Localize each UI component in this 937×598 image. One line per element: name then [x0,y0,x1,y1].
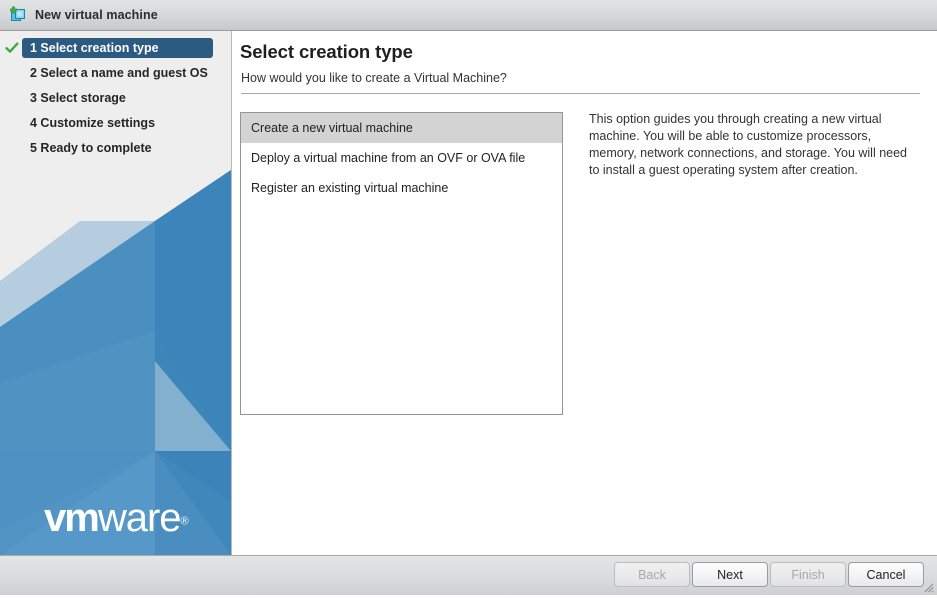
sidebar-step-select-storage[interactable]: 3 Select storage [0,88,231,108]
sidebar-step-ready-to-complete[interactable]: 5 Ready to complete [0,138,231,158]
header-divider [241,93,920,94]
wizard-footer: Back Next Finish Cancel [0,555,937,595]
step-marker-placeholder [4,115,20,131]
finish-button[interactable]: Finish [770,562,846,587]
sidebar-step-select-creation-type[interactable]: 1 Select creation type [0,38,231,58]
sidebar-step-label: 3 Select storage [22,88,135,108]
vmware-logo: vmware® [44,498,189,538]
wizard-sidebar: vmware® 1 Select creation type 2 Select … [0,31,231,555]
window-title: New virtual machine [35,8,158,22]
list-item-label: Register an existing virtual machine [251,181,448,195]
list-item-register-existing-virtual-machine[interactable]: Register an existing virtual machine [241,173,562,203]
sidebar-step-label: 1 Select creation type [22,38,213,58]
wizard-main-panel: Select creation type How would you like … [231,31,937,555]
next-button[interactable]: Next [692,562,768,587]
window-titlebar: New virtual machine [0,0,937,31]
list-item-label: Deploy a virtual machine from an OVF or … [251,151,525,165]
list-item-label: Create a new virtual machine [251,121,413,135]
wizard-step-list: 1 Select creation type 2 Select a name a… [0,31,231,163]
new-virtual-machine-icon [8,6,28,24]
vmware-logo-bold: vm [44,496,98,540]
vmware-logo-trademark: ® [181,516,189,528]
new-virtual-machine-wizard: New virtual machine vmware® [0,0,937,595]
page-title: Select creation type [240,41,413,63]
step-marker-placeholder [4,65,20,81]
checkmark-icon [4,40,20,56]
cancel-button[interactable]: Cancel [848,562,924,587]
sidebar-step-customize-settings[interactable]: 4 Customize settings [0,113,231,133]
page-subtitle: How would you like to create a Virtual M… [241,71,507,85]
sidebar-step-label: 5 Ready to complete [22,138,161,158]
list-item-create-new-virtual-machine[interactable]: Create a new virtual machine [241,113,562,143]
creation-type-list[interactable]: Create a new virtual machine Deploy a vi… [240,112,563,415]
sidebar-step-select-name-and-guest-os[interactable]: 2 Select a name and guest OS [0,63,231,83]
step-marker-placeholder [4,140,20,156]
sidebar-step-label: 4 Customize settings [22,113,164,133]
list-item-deploy-from-ovf-ova[interactable]: Deploy a virtual machine from an OVF or … [241,143,562,173]
option-description: This option guides you through creating … [589,111,915,179]
sidebar-step-label: 2 Select a name and guest OS [22,63,217,83]
back-button[interactable]: Back [614,562,690,587]
resize-grip[interactable] [922,580,934,592]
step-marker-placeholder [4,90,20,106]
vmware-logo-light: ware [98,496,181,540]
